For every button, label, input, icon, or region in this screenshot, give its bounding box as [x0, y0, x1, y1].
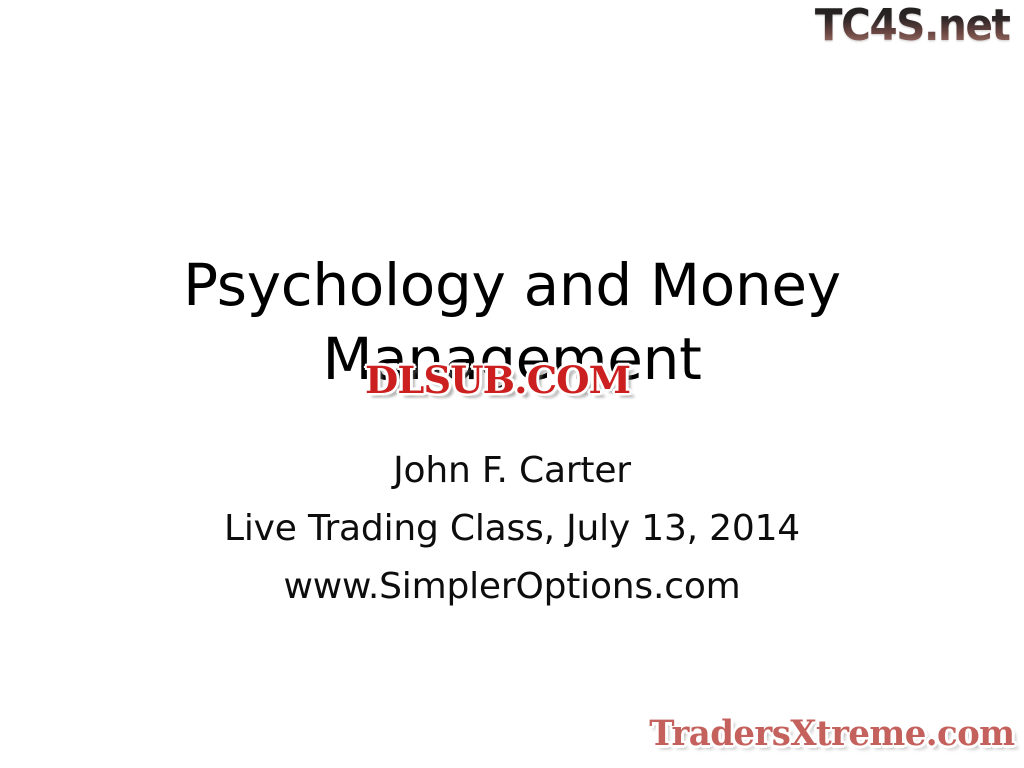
title-line-1: Psychology and Money: [0, 248, 1024, 322]
watermark-dlsub-com: DLSUB.COM: [365, 360, 630, 401]
subtitle-website: www.SimplerOptions.com: [0, 558, 1024, 616]
subtitle-presenter-name: John F. Carter: [0, 442, 1024, 500]
watermark-tradersxtreme-com: TradersXtreme.com: [650, 714, 1015, 754]
subtitle-event-date: Live Trading Class, July 13, 2014: [0, 500, 1024, 558]
presentation-slide: TC4S.net Psychology and Money Management…: [0, 0, 1024, 768]
slide-subtitle: John F. Carter Live Trading Class, July …: [0, 442, 1024, 616]
watermark-tc4s-net: TC4S.net: [815, 2, 1010, 50]
